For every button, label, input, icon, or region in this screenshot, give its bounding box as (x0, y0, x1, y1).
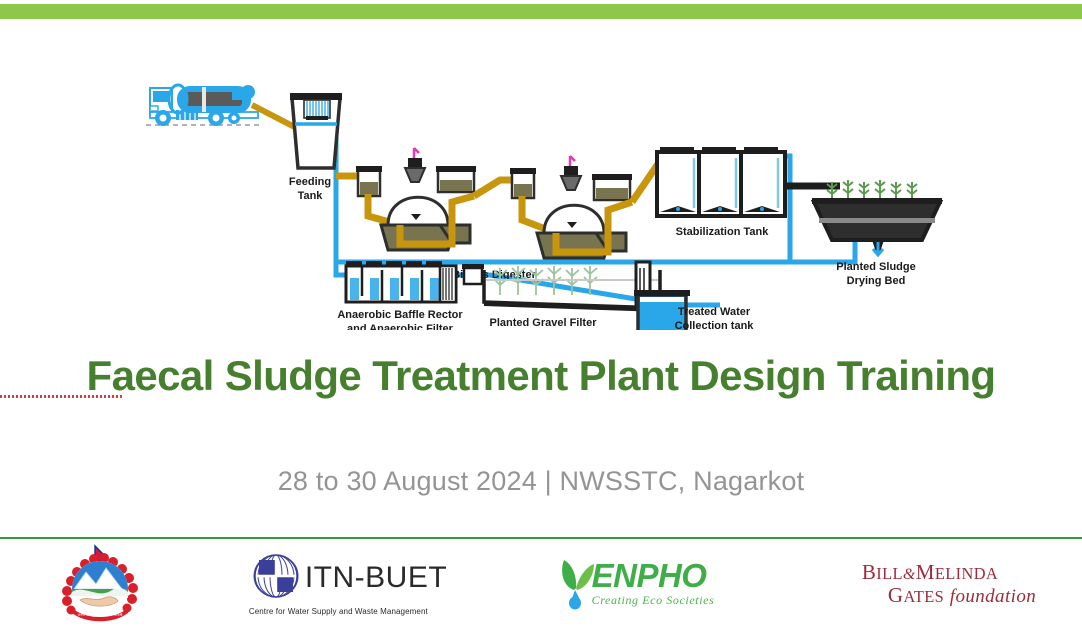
stabilization-tank-icon (657, 147, 785, 216)
enpho-sprout-droplet-icon (556, 556, 596, 612)
enpho-wordmark: ENPHO (592, 560, 715, 591)
planted-sludge-drying-bed-icon (812, 180, 942, 255)
itn-buet-globe-icon (249, 552, 305, 604)
anaerobic-baffle-reactor-icon (346, 261, 456, 302)
gates-foundation-word: foundation (950, 586, 1036, 607)
digester1-inlet-box (356, 166, 382, 196)
label-stabilization-tank: Stabilization Tank (676, 226, 770, 238)
digester2-inlet-box (510, 168, 536, 198)
label-planted-gravel-filter: Planted Gravel Filter (490, 317, 598, 329)
footer-divider (0, 537, 1082, 539)
feeding-tank-icon (290, 93, 342, 168)
subtitle-block: 28 to 30 August 2024 | NWSSTC, Nagarkot (0, 466, 1082, 497)
gates-line1-ill: ILL (876, 564, 903, 583)
itn-buet-tagline: Centre for Water Supply and Waste Manage… (249, 607, 447, 616)
enpho-logo: ENPHO Creating Eco Societies (545, 540, 725, 628)
label-collection-tank-line1: Treated Water (678, 306, 751, 318)
itn-buet-logo: ITN-BUET Centre for Water Supply and Was… (248, 540, 448, 628)
label-feeding-tank-line2: Tank (298, 190, 324, 202)
label-feeding-tank-line1: Feeding (289, 176, 331, 188)
gates-line1-elinda: ELINDA (935, 564, 998, 583)
title-block: Faecal Sludge Treatment Plant Design Tra… (0, 352, 1082, 400)
presentation-slide: Feeding Tank (0, 0, 1082, 628)
gates-line2-g: G (888, 583, 904, 607)
event-subtitle: 28 to 30 August 2024 | NWSSTC, Nagarkot (0, 466, 1082, 497)
label-abr-line2: and Anaerobic Filter (347, 323, 454, 330)
sponsor-logo-bar: जननी जन्मभूमिश्च स्वर्गादपि गरीयसी (0, 540, 1082, 628)
label-drying-bed-line2: Drying Bed (847, 275, 906, 287)
gates-line1-b: B (862, 560, 876, 584)
gates-line2-ates: ATES (903, 587, 944, 606)
page-title: Faecal Sludge Treatment Plant Design Tra… (87, 352, 996, 400)
abr-outlet-junction-box (462, 264, 484, 284)
top-accent-bar (0, 4, 1082, 19)
itn-buet-wordmark: ITN-BUET (305, 563, 447, 593)
label-drying-bed-line1: Planted Sludge (836, 261, 915, 273)
nepal-emblem-icon: जननी जन्मभूमिश्च स्वर्गादपि गरीयसी (52, 542, 148, 626)
vacuum-truck-icon (146, 85, 262, 126)
gates-line1-m: M (916, 560, 935, 584)
process-flow-diagram: Feeding Tank (0, 30, 1082, 330)
label-abr-line1: Anaerobic Baffle Rector (337, 309, 463, 321)
svg-text:जननी जन्मभूमिश्च स्वर्गादपि गर: जननी जन्मभूमिश्च स्वर्गादपि गरीयसी (78, 612, 123, 617)
spellcheck-underline (0, 395, 124, 398)
bill-and-melinda-gates-foundation-logo: BILL&MELINDA GATES foundation (838, 540, 1060, 628)
gates-ampersand: & (903, 566, 916, 583)
enpho-tagline: Creating Eco Societies (592, 593, 715, 608)
label-collection-tank-line2: Collection tank (675, 320, 755, 330)
government-of-nepal-emblem: जननी जन्मभूमिश्च स्वर्गादपि गरीयसी (30, 540, 170, 628)
